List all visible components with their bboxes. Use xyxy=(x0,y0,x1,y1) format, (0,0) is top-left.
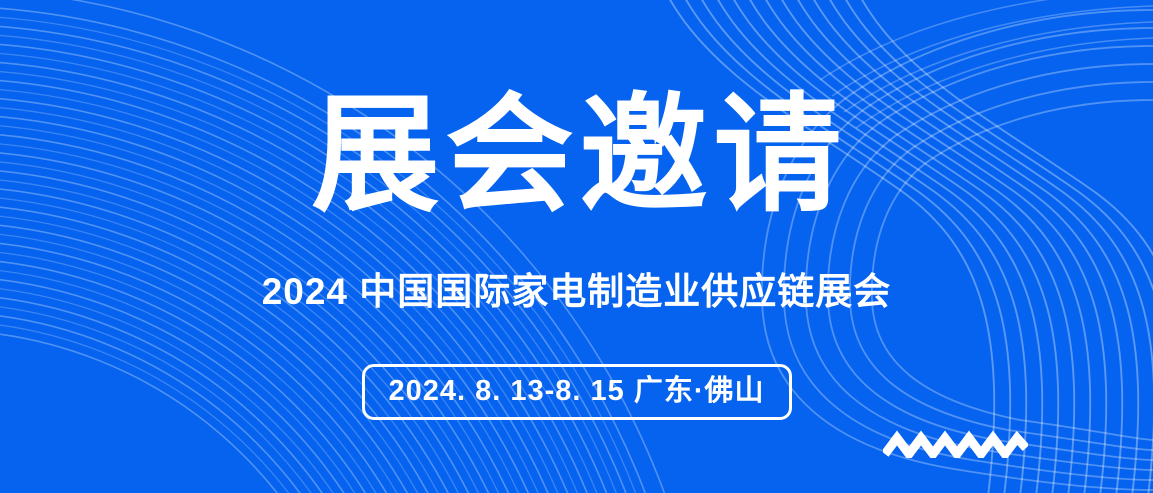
page-title: 展会邀请 xyxy=(0,86,1153,226)
zigzag-wave-icon xyxy=(883,428,1028,458)
badge-container: 2024. 8. 13-8. 15 广东·佛山 xyxy=(0,364,1153,420)
event-subtitle: 2024 中国国际家电制造业供应链展会 xyxy=(0,268,1153,316)
exhibition-invitation-banner: 展会邀请 2024 中国国际家电制造业供应链展会 2024. 8. 13-8. … xyxy=(0,0,1153,493)
date-location-badge: 2024. 8. 13-8. 15 广东·佛山 xyxy=(362,364,792,420)
banner-content: 展会邀请 2024 中国国际家电制造业供应链展会 2024. 8. 13-8. … xyxy=(0,0,1153,493)
